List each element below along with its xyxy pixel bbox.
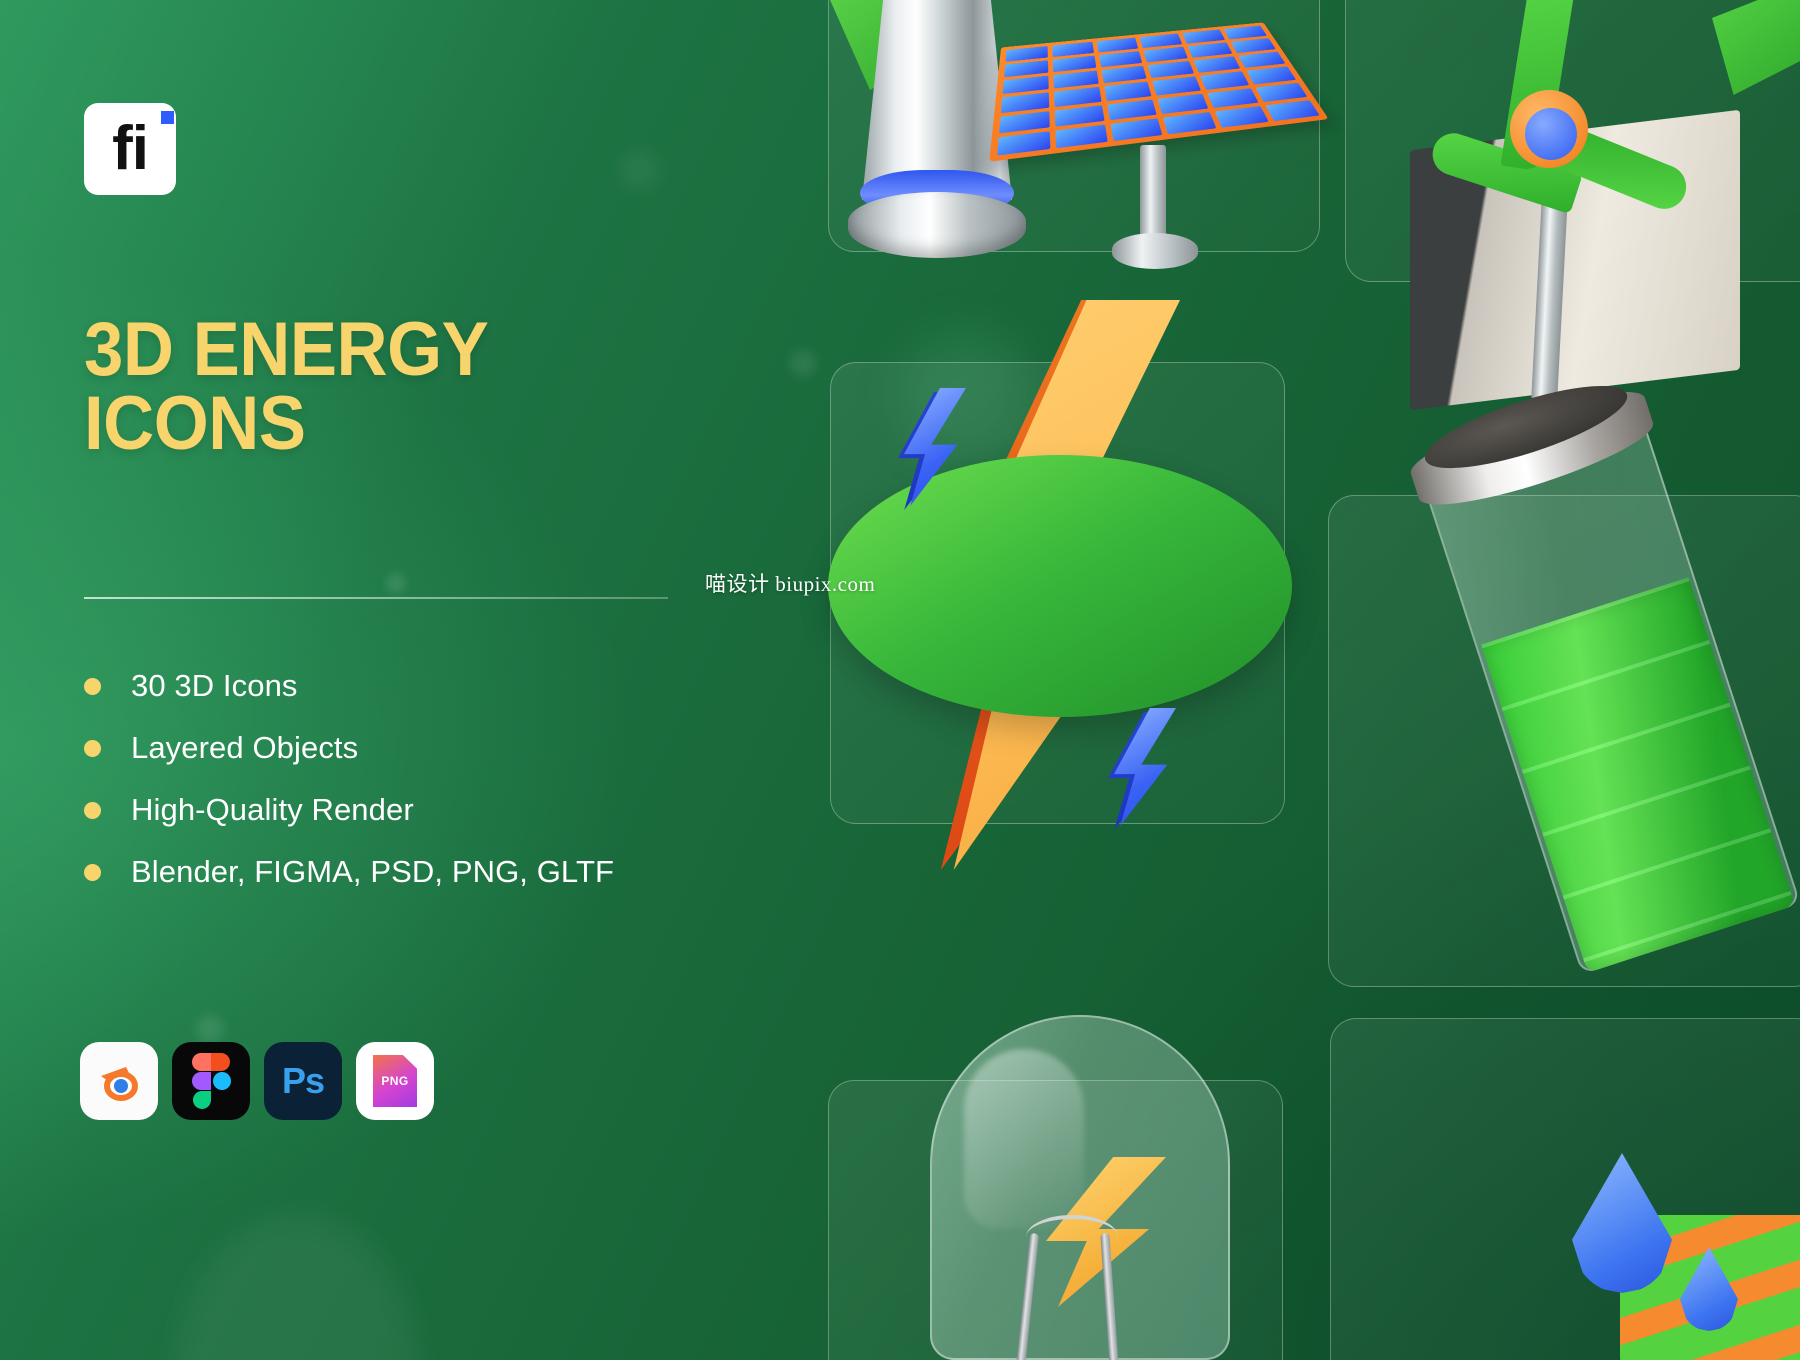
- light-bulb-icon: [930, 1015, 1260, 1360]
- solar-panel-icon: [1000, 0, 1320, 285]
- brand-logo-text: fi: [112, 118, 148, 180]
- battery-icon: [1355, 325, 1800, 1003]
- page-fold-icon: [403, 1055, 417, 1069]
- png-label: PNG: [381, 1074, 408, 1088]
- blender-icon[interactable]: [80, 1042, 158, 1120]
- list-item: Layered Objects: [84, 717, 724, 779]
- small-lightning-bolt-icon: [898, 392, 960, 510]
- feature-label: 30 3D Icons: [131, 668, 298, 704]
- small-lightning-bolt-icon: [1108, 712, 1170, 830]
- bullet-icon: [84, 740, 101, 757]
- feature-label: Blender, FIGMA, PSD, PNG, GLTF: [131, 854, 614, 890]
- png-icon[interactable]: PNG: [356, 1042, 434, 1120]
- list-item: High-Quality Render: [84, 779, 724, 841]
- feature-label: Layered Objects: [131, 730, 358, 766]
- brand-logo-dot: [161, 111, 174, 124]
- feature-label: High-Quality Render: [131, 792, 414, 828]
- format-badge-list: Ps PNG: [80, 1042, 434, 1120]
- bullet-icon: [84, 864, 101, 881]
- photoshop-icon[interactable]: Ps: [264, 1042, 342, 1120]
- poster-canvas: 喵设计 biupix.com fi 3D ENERGY ICONS 30 3D …: [0, 0, 1800, 1360]
- feature-list: 30 3D Icons Layered Objects High-Quality…: [84, 655, 724, 903]
- water-drop-icon: [1560, 1145, 1800, 1360]
- page-title-line-1: 3D ENERGY: [84, 307, 488, 392]
- bullet-icon: [84, 802, 101, 819]
- list-item: Blender, FIGMA, PSD, PNG, GLTF: [84, 841, 724, 903]
- photoshop-label: Ps: [282, 1060, 324, 1102]
- figma-icon[interactable]: [172, 1042, 250, 1120]
- list-item: 30 3D Icons: [84, 655, 724, 717]
- brand-logo: fi: [84, 103, 176, 195]
- page-title: 3D ENERGY ICONS: [84, 313, 661, 460]
- bullet-icon: [84, 678, 101, 695]
- divider: [84, 597, 668, 599]
- watermark: 喵设计 biupix.com: [705, 568, 875, 598]
- info-panel: fi 3D ENERGY ICONS 30 3D Icons Layered O…: [0, 0, 760, 1360]
- page-title-line-2: ICONS: [84, 387, 661, 461]
